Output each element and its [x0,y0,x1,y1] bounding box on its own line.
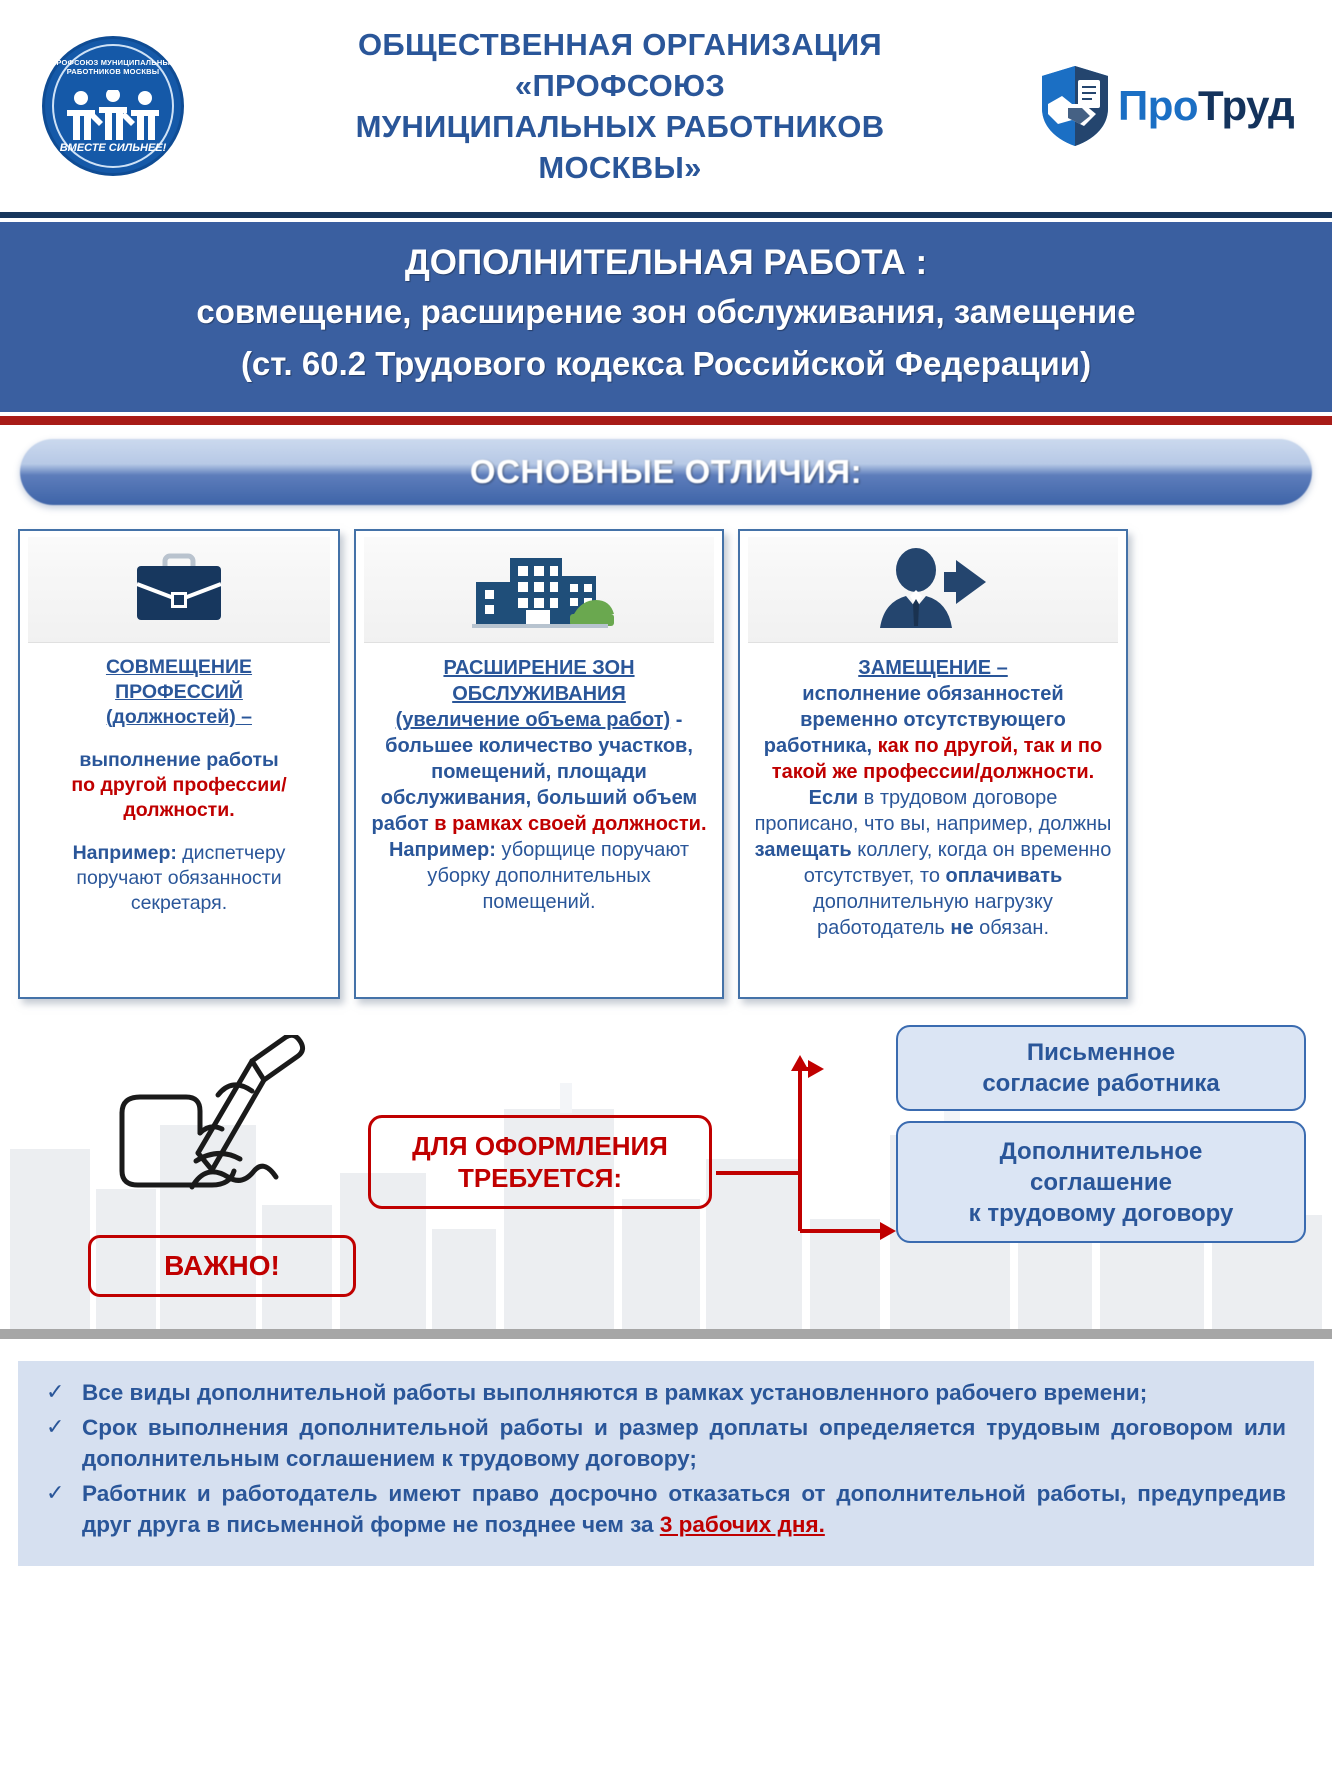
differences-cards: СОВМЕЩЕНИЕ ПРОФЕССИЙ (должностей) – выпо… [0,511,1332,999]
card-3-s2-b2: замещать [755,839,852,861]
output-box-supplementary-agreement: Дополнительное соглашение к трудовому до… [896,1121,1306,1243]
checklist-highlight-3: 3 рабочих дня. [660,1512,825,1537]
card-2-head-2: ОБСЛУЖИВАНИЯ [452,683,626,705]
output-2-line-2: соглашение [1030,1167,1172,1198]
requirement-label-box: ДЛЯ ОФОРМЛЕНИЯ ТРЕБУЕТСЯ: [368,1115,712,1209]
card-1-spacer-2 [34,823,324,841]
card-2-body: РАСШИРЕНИЕ ЗОН ОБСЛУЖИВАНИЯ (увеличение … [364,643,714,915]
protrud-wordmark: ПроТруд [1118,82,1294,130]
protrud-word-pro: Про [1118,82,1198,129]
card-1-head-1: СОВМЕЩЕНИЕ [106,656,252,678]
card-3-s2-b1: Если [809,787,858,809]
output-1-line-2: согласие работника [982,1068,1219,1099]
org-title-line-1: ОБЩЕСТВЕННАЯ ОРГАНИЗАЦИЯ [212,24,1028,65]
output-2-line-3: к трудовому договору [969,1198,1234,1229]
main-title-banner: ДОПОЛНИТЕЛЬНАЯ РАБОТА : совмещение, расш… [0,222,1332,412]
card-2-body-red: в рамках своей должности. [434,813,706,835]
card-2-head-dash: - [670,709,682,731]
checklist-text-3: Работник и работодатель имеют право доср… [82,1478,1286,1540]
logo-people-icon [24,90,202,147]
checklist-panel: ✓ Все виды дополнительной работы выполня… [18,1361,1314,1566]
banner-line-3: (ст. 60.2 Трудового кодекса Российской Ф… [28,336,1304,392]
card-1-body-navy: выполнение работы [79,749,278,771]
section-band: ОСНОВНЫЕ ОТЛИЧИЯ: [20,439,1312,505]
important-label: ВАЖНО! [164,1250,280,1282]
list-item: ✓ Срок выполнения дополнительной работы … [46,1412,1286,1474]
logo-top-text: ПРОФСОЮЗ МУНИЦИПАЛЬНЫХ РАБОТНИКОВ МОСКВЫ [24,58,202,76]
briefcase-icon [28,537,330,643]
section-title: ОСНОВНЫЕ ОТЛИЧИЯ: [470,453,862,491]
card-1-example-label: Например: [73,842,177,864]
hand-writing-pencil-icon [100,1035,330,1230]
output-2-line-1: Дополнительное [1000,1136,1203,1167]
list-item: ✓ Все виды дополнительной работы выполня… [46,1377,1286,1408]
important-badge: ВАЖНО! [88,1235,356,1297]
card-2-head-3: (увеличение объема работ) [396,709,671,731]
section-band-wrap: ОСНОВНЫЕ ОТЛИЧИЯ: [0,425,1332,511]
logo-slogan: ВМЕСТЕ СИЛЬНЕЕ! [24,142,202,154]
branch-connector [716,1025,898,1245]
checklist-text-1: Все виды дополнительной работы выполняют… [82,1377,1286,1408]
org-title-line-2: «ПРОФСОЮЗ [212,65,1028,106]
check-mark-icon: ✓ [46,1412,66,1474]
requirement-line-1: ДЛЯ ОФОРМЛЕНИЯ [412,1130,668,1162]
card-zameshchenie: ЗАМЕЩЕНИЕ – исполнение обязанностей врем… [738,529,1128,999]
list-item: ✓ Работник и работодатель имеют право до… [46,1478,1286,1540]
protrud-word-trud: Труд [1198,82,1294,129]
card-2-example-label: Например: [389,839,496,861]
union-logo: ПРОФСОЮЗ МУНИЦИПАЛЬНЫХ РАБОТНИКОВ МОСКВЫ… [24,32,202,180]
card-1-body: СОВМЕЩЕНИЕ ПРОФЕССИЙ (должностей) – выпо… [28,643,330,916]
requirements-section: ДЛЯ ОФОРМЛЕНИЯ ТРЕБУЕТСЯ: Письменное сог… [0,1009,1332,1329]
org-title-line-3: МУНИЦИПАЛЬНЫХ РАБОТНИКОВ [212,106,1028,147]
banner-line-2: совмещение, расширение зон обслуживания,… [28,288,1304,336]
card-1-head-2: ПРОФЕССИЙ [115,681,243,703]
card-1-body-red: по другой профессии/должности. [71,774,286,821]
infographic-page: ПРОФСОЮЗ МУНИЦИПАЛЬНЫХ РАБОТНИКОВ МОСКВЫ… [0,0,1332,1776]
output-box-written-consent: Письменное согласие работника [896,1025,1306,1111]
requirement-line-2: ТРЕБУЕТСЯ: [458,1162,622,1194]
card-2-head-1: РАСШИРЕНИЕ ЗОН [443,657,634,679]
divider-red [0,416,1332,425]
card-1-head-3: (должностей) – [106,706,252,728]
output-1-line-1: Письменное [1027,1037,1175,1068]
card-3-s2-d: обязан. [974,917,1049,939]
buildings-icon [364,537,714,643]
card-3-s2-b3: оплачивать [946,865,1063,887]
card-3-body: ЗАМЕЩЕНИЕ – исполнение обязанностей врем… [748,643,1118,941]
check-mark-icon: ✓ [46,1377,66,1408]
card-1-spacer [34,730,324,748]
organization-title: ОБЩЕСТВЕННАЯ ОРГАНИЗАЦИЯ «ПРОФСОЮЗ МУНИЦ… [202,24,1038,188]
checklist-text-2: Срок выполнения дополнительной работы и … [82,1412,1286,1474]
banner-line-1: ДОПОЛНИТЕЛЬНАЯ РАБОТА : [28,238,1304,288]
footer-wrap: ✓ Все виды дополнительной работы выполня… [0,1339,1332,1566]
card-rasshirenie: РАСШИРЕНИЕ ЗОН ОБСЛУЖИВАНИЯ (увеличение … [354,529,724,999]
org-title-line-4: МОСКВЫ» [212,147,1028,188]
card-3-head-1: ЗАМЕЩЕНИЕ – [858,657,1008,679]
shield-handshake-icon [1038,64,1112,148]
card-3-s2-b4: не [950,917,973,939]
check-mark-icon: ✓ [46,1478,66,1540]
page-header: ПРОФСОЮЗ МУНИЦИПАЛЬНЫХ РАБОТНИКОВ МОСКВЫ… [0,0,1332,212]
grey-separator [0,1329,1332,1339]
protrud-logo: ПроТруд [1038,64,1308,148]
card-sovmeshchenie: СОВМЕЩЕНИЕ ПРОФЕССИЙ (должностей) – выпо… [18,529,340,999]
person-replace-icon [748,537,1118,643]
